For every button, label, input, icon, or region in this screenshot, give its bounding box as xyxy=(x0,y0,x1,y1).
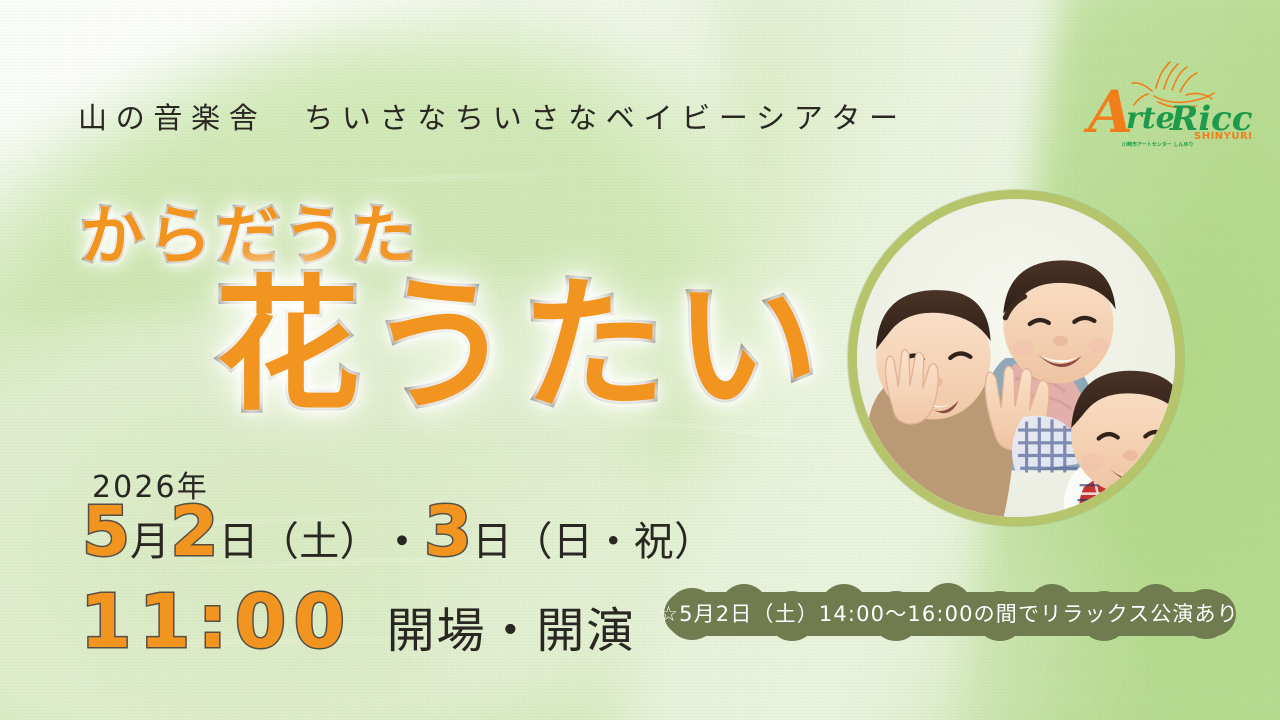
schedule-time-label: 開場・開演 xyxy=(387,607,637,655)
schedule-day2-unit: 日 xyxy=(472,522,512,562)
schedule-day2-weekday: （日・祝） xyxy=(512,522,714,562)
poster-content: 山の音楽舎 ちいさなちいさなベイビーシアター A rte Ricca xyxy=(0,0,1280,720)
relax-performance-banner: ☆5月2日（土）14:00〜16:00の間でリラックス公演あり xyxy=(640,578,1258,648)
logo-sub-shinyuri: SHINYURI xyxy=(1194,131,1252,142)
schedule-time: 11:00 xyxy=(80,585,353,659)
logo-caption: 川崎市アートセンター しんゆり xyxy=(1121,141,1193,148)
schedule-timeline: 11:00 開場・開演 xyxy=(80,585,636,659)
title-main: 花うたい xyxy=(215,273,827,421)
schedule-month-unit: 月 xyxy=(130,522,170,562)
logo-word-rte: rte xyxy=(1126,101,1175,136)
babies-photo xyxy=(857,199,1175,517)
schedule-day1-weekday: （土） xyxy=(259,522,380,562)
poster-canvas: 山の音楽舎 ちいさなちいさなベイビーシアター A rte Ricca xyxy=(0,0,1280,720)
babies-photo-ring xyxy=(848,190,1184,526)
relax-performance-text: ☆5月2日（土）14:00〜16:00の間でリラックス公演あり xyxy=(640,578,1258,648)
schedule-day1-number: 2 xyxy=(170,498,218,567)
header-series-line: 山の音楽舎 ちいさなちいさなベイビーシアター xyxy=(78,95,907,137)
schedule-separator: ・ xyxy=(380,522,424,562)
schedule-dateline: 5 月 2 日 （土） ・ 3 日 （日・祝） xyxy=(82,498,714,567)
arte-ricca-logo: A rte Ricca SHINYURI 川崎市アートセンター しんゆり xyxy=(1082,58,1252,150)
schedule-month-number: 5 xyxy=(82,498,130,567)
schedule-day1-unit: 日 xyxy=(218,522,258,562)
schedule-day2-number: 3 xyxy=(424,498,472,567)
